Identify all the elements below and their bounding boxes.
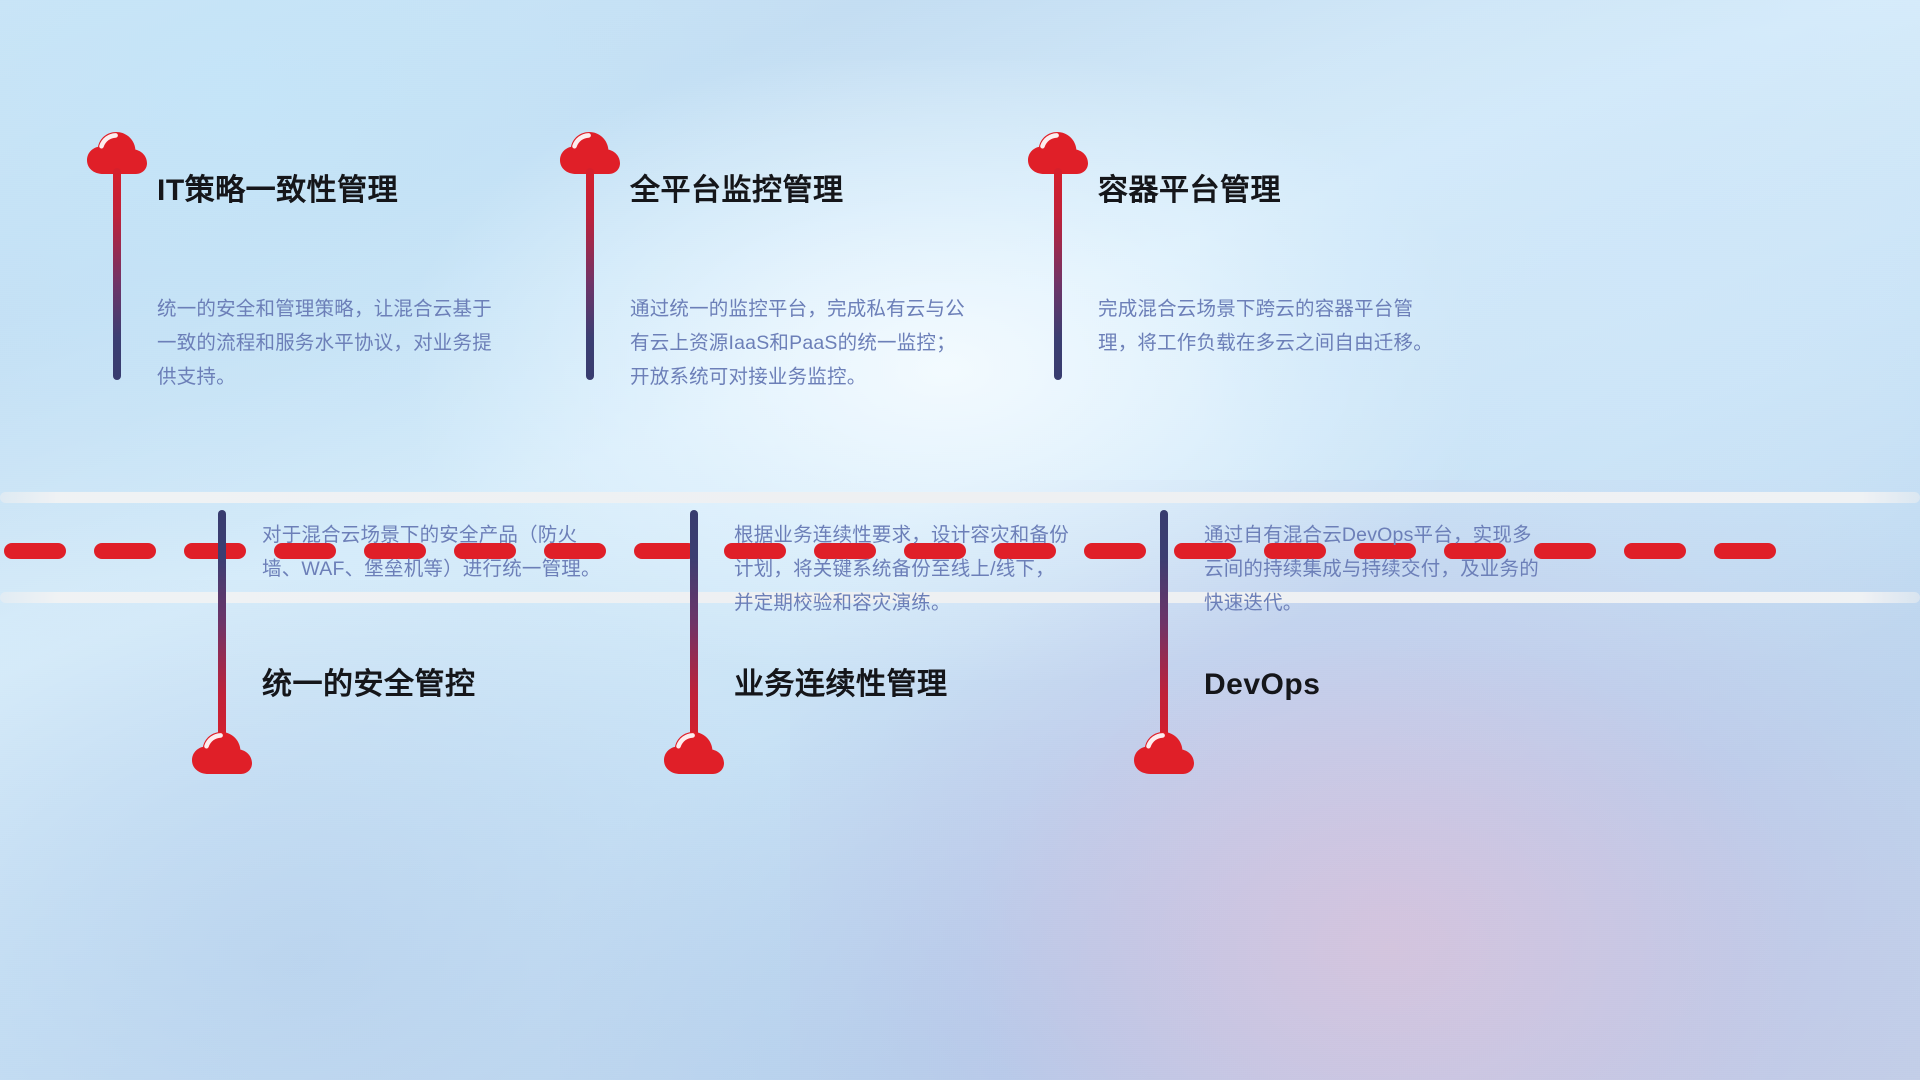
feature-title: IT策略一致性管理 <box>157 176 398 206</box>
road-dash <box>1084 543 1146 559</box>
connector-stem <box>1160 510 1168 746</box>
feature-description: 统一的安全和管理策略，让混合云基于一致的流程和服务水平协议，对业务提供支持。 <box>157 292 497 394</box>
infographic-canvas: IT策略一致性管理 统一的安全和管理策略，让混合云基于一致的流程和服务水平协议，… <box>0 0 1920 1080</box>
road-dash <box>1624 543 1686 559</box>
cloud-icon <box>1132 730 1196 776</box>
feature-description: 完成混合云场景下跨云的容器平台管理，将工作负载在多云之间自由迁移。 <box>1098 292 1450 360</box>
connector-stem <box>586 168 594 380</box>
connector-stem <box>1054 168 1062 380</box>
feature-description: 通过自有混合云DevOps平台，实现多云间的持续集成与持续交付，及业务的快速迭代… <box>1204 518 1544 620</box>
feature-description: 根据业务连续性要求，设计容灾和备份计划，将关键系统备份至线上/线下，并定期校验和… <box>734 518 1074 620</box>
feature-title: DevOps <box>1204 670 1320 700</box>
connector-stem <box>218 510 226 746</box>
road-dash <box>94 543 156 559</box>
road-dash <box>634 543 696 559</box>
connector-stem <box>113 168 121 380</box>
road-dash <box>4 543 66 559</box>
cloud-icon <box>662 730 726 776</box>
road-dash <box>184 543 246 559</box>
road-edge-line-top <box>0 492 1920 503</box>
feature-title: 容器平台管理 <box>1098 176 1281 206</box>
feature-description: 对于混合云场景下的安全产品（防火墙、WAF、堡垒机等）进行统一管理。 <box>262 518 602 586</box>
feature-title: 统一的安全管控 <box>262 670 476 700</box>
cloud-icon <box>190 730 254 776</box>
road-dash <box>1714 543 1776 559</box>
feature-title: 业务连续性管理 <box>734 670 948 700</box>
feature-description: 通过统一的监控平台，完成私有云与公有云上资源IaaS和PaaS的统一监控；开放系… <box>630 292 970 394</box>
feature-title: 全平台监控管理 <box>630 176 844 206</box>
connector-stem <box>690 510 698 746</box>
